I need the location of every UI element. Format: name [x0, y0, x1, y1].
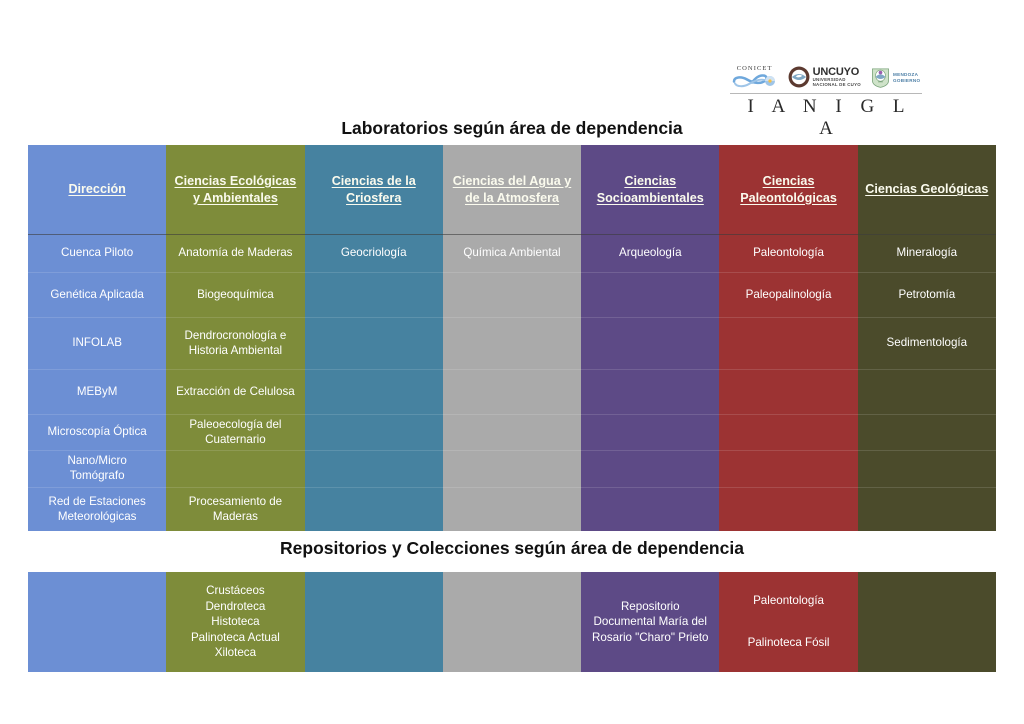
column-header-label: Ciencias Geológicas [865, 181, 988, 198]
column-header-ciencias-ecologicas-y-ambientales[interactable]: Ciencias Ecológicas y Ambientales [166, 145, 304, 234]
repo-column-ciencias-paleontologicas: PaleontologíaPalinoteca Fósil [719, 572, 857, 672]
repositorios-section-title: Repositorios y Colecciones según área de… [0, 538, 1024, 559]
lab-cell-empty [443, 414, 581, 450]
column-header-label: Ciencias Socioambientales [586, 173, 714, 206]
lab-label: Microscopía Óptica [48, 425, 147, 440]
repo-label: CrustáceosDendrotecaHistotecaPalinoteca … [191, 583, 280, 660]
repo-label: RepositorioDocumental María delRosario "… [592, 599, 709, 645]
repo-column-ciencias-del-agua-y-de-la-atmosfera [443, 572, 581, 672]
conicet-logo: CONICET [732, 66, 778, 89]
lab-cell[interactable]: Mineralogía [858, 234, 996, 272]
lab-cell-empty [443, 317, 581, 369]
lab-label: Química Ambiental [463, 246, 560, 261]
lab-label: Anatomía de Maderas [178, 246, 292, 261]
repo-cell-empty [305, 572, 443, 672]
column-header-ciencias-de-la-criosfera[interactable]: Ciencias de la Criosfera [305, 145, 443, 234]
conicet-wordmark: CONICET [737, 66, 773, 73]
lab-cell-empty [858, 450, 996, 487]
lab-cell-empty [305, 487, 443, 531]
lab-label: Paleopalinología [746, 288, 832, 303]
lab-cell-empty [581, 450, 719, 487]
lab-cell[interactable]: Química Ambiental [443, 234, 581, 272]
lab-cell[interactable]: Dendrocronología eHistoria Ambiental [166, 317, 304, 369]
uncuyo-logo: UNCUYO UNIVERSIDAD NACIONAL DE CUYO [788, 66, 861, 88]
conicet-infinity-icon [732, 73, 778, 88]
lab-cell-empty [305, 369, 443, 414]
lab-cell[interactable]: Biogeoquímica [166, 272, 304, 317]
column-direccion: DirecciónCuenca PilotoGenética AplicadaI… [28, 145, 166, 531]
lab-cell-empty [719, 450, 857, 487]
repo-column-ciencias-socioambientales: RepositorioDocumental María delRosario "… [581, 572, 719, 672]
lab-label: Extracción de Celulosa [176, 385, 295, 400]
lab-label: Red de EstacionesMeteorológicas [48, 495, 145, 524]
repo-column-ciencias-de-la-criosfera [305, 572, 443, 672]
mendoza-line-1: MENDOZA [893, 72, 920, 77]
column-ciencias-socioambientales: Ciencias SocioambientalesArqueología [581, 145, 719, 531]
uncuyo-subtitle-2: NACIONAL DE CUYO [813, 83, 861, 88]
repo-column-ciencias-ecologicas-y-ambientales: CrustáceosDendrotecaHistotecaPalinoteca … [166, 572, 304, 672]
column-ciencias-del-agua-y-de-la-atmosfera: Ciencias del Agua y de la AtmosferaQuími… [443, 145, 581, 531]
repo-cell[interactable]: CrustáceosDendrotecaHistotecaPalinoteca … [166, 572, 304, 672]
column-header-ciencias-del-agua-y-de-la-atmosfera[interactable]: Ciencias del Agua y de la Atmosfera [443, 145, 581, 234]
lab-cell[interactable]: Extracción de Celulosa [166, 369, 304, 414]
lab-cell[interactable]: Procesamiento deMaderas [166, 487, 304, 531]
lab-cell[interactable]: Paleontología [719, 234, 857, 272]
repo-label: PaleontologíaPalinoteca Fósil [748, 593, 830, 650]
lab-label: Geocriología [341, 246, 407, 261]
repo-column-ciencias-geologicas [858, 572, 996, 672]
lab-cell-empty [305, 450, 443, 487]
laboratorios-table: DirecciónCuenca PilotoGenética AplicadaI… [28, 145, 996, 531]
uncuyo-text: UNCUYO UNIVERSIDAD NACIONAL DE CUYO [813, 67, 861, 88]
column-header-label: Ciencias Ecológicas y Ambientales [171, 173, 299, 206]
lab-cell[interactable]: Paleopalinología [719, 272, 857, 317]
lab-label: Nano/MicroTomógrafo [68, 454, 127, 483]
lab-cell[interactable]: Microscopía Óptica [28, 414, 166, 450]
mendoza-shield-icon [871, 67, 890, 88]
lab-cell-empty [305, 414, 443, 450]
lab-label: Genética Aplicada [50, 288, 143, 303]
lab-cell-empty [581, 369, 719, 414]
repo-cell[interactable]: PaleontologíaPalinoteca Fósil [719, 572, 857, 672]
lab-cell-empty [719, 487, 857, 531]
lab-cell-empty [581, 414, 719, 450]
column-ciencias-paleontologicas: Ciencias PaleontológicasPaleontologíaPal… [719, 145, 857, 531]
column-header-label: Ciencias de la Criosfera [310, 173, 438, 206]
lab-label: Arqueología [619, 246, 682, 261]
repo-cell-empty [858, 572, 996, 672]
column-ciencias-de-la-criosfera: Ciencias de la CriosferaGeocriología [305, 145, 443, 531]
lab-cell-empty [719, 414, 857, 450]
mendoza-text: MENDOZA GOBIERNO [893, 72, 920, 83]
lab-cell[interactable]: Red de EstacionesMeteorológicas [28, 487, 166, 531]
lab-cell-empty [858, 487, 996, 531]
lab-cell-empty [581, 317, 719, 369]
lab-cell[interactable]: Nano/MicroTomógrafo [28, 450, 166, 487]
uncuyo-seal-icon [788, 66, 810, 88]
lab-label: Cuenca Piloto [61, 246, 133, 261]
lab-cell-empty [166, 450, 304, 487]
lab-label: INFOLAB [72, 336, 122, 351]
column-header-ciencias-geologicas[interactable]: Ciencias Geológicas [858, 145, 996, 234]
column-header-label: Ciencias del Agua y de la Atmosfera [448, 173, 576, 206]
logo-row: CONICET UNCUYO UNIVERSIDAD NACIONAL DE C [728, 44, 924, 88]
lab-cell[interactable]: Cuenca Piloto [28, 234, 166, 272]
lab-label: Paleoecología delCuaternario [189, 418, 281, 447]
lab-label: Sedimentología [887, 336, 968, 351]
repo-cell[interactable]: RepositorioDocumental María delRosario "… [581, 572, 719, 672]
laboratorios-section-title: Laboratorios según área de dependencia [0, 118, 1024, 139]
lab-cell-empty [719, 317, 857, 369]
repo-cell-empty [443, 572, 581, 672]
lab-cell-empty [581, 272, 719, 317]
lab-cell-empty [858, 414, 996, 450]
repositorios-table: CrustáceosDendrotecaHistotecaPalinoteca … [28, 572, 996, 672]
mendoza-line-2: GOBIERNO [893, 78, 920, 83]
column-ciencias-geologicas: Ciencias GeológicasMineralogíaPetrotomía… [858, 145, 996, 531]
lab-cell[interactable]: Genética Aplicada [28, 272, 166, 317]
lab-label: Procesamiento deMaderas [189, 495, 282, 524]
column-header-label: Ciencias Paleontológicas [724, 173, 852, 206]
mendoza-gobierno-logo: MENDOZA GOBIERNO [871, 67, 920, 88]
lab-cell-empty [858, 369, 996, 414]
lab-cell-empty [443, 369, 581, 414]
lab-cell[interactable]: Geocriología [305, 234, 443, 272]
column-header-label: Dirección [68, 181, 125, 198]
lab-cell[interactable]: MEByM [28, 369, 166, 414]
lab-cell[interactable]: Anatomía de Maderas [166, 234, 304, 272]
lab-cell-empty [305, 272, 443, 317]
lab-label: Dendrocronología eHistoria Ambiental [185, 329, 287, 358]
lab-label: Petrotomía [898, 288, 955, 303]
logo-divider [730, 93, 922, 94]
repo-cell-empty [28, 572, 166, 672]
lab-cell-empty [443, 450, 581, 487]
lab-label: Paleontología [753, 246, 824, 261]
lab-cell[interactable]: Sedimentología [858, 317, 996, 369]
lab-label: MEByM [77, 385, 118, 400]
lab-cell-empty [719, 369, 857, 414]
lab-cell-empty [581, 487, 719, 531]
lab-cell-empty [305, 317, 443, 369]
column-header-direccion[interactable]: Dirección [28, 145, 166, 234]
lab-cell[interactable]: Arqueología [581, 234, 719, 272]
lab-label: Biogeoquímica [197, 288, 274, 303]
lab-cell-empty [443, 487, 581, 531]
column-ciencias-ecologicas-y-ambientales: Ciencias Ecológicas y AmbientalesAnatomí… [166, 145, 304, 531]
lab-cell[interactable]: Paleoecología delCuaternario [166, 414, 304, 450]
column-header-ciencias-paleontologicas[interactable]: Ciencias Paleontológicas [719, 145, 857, 234]
lab-cell[interactable]: Petrotomía [858, 272, 996, 317]
lab-cell-empty [443, 272, 581, 317]
lab-label: Mineralogía [897, 246, 958, 261]
repo-column-direccion [28, 572, 166, 672]
column-header-ciencias-socioambientales[interactable]: Ciencias Socioambientales [581, 145, 719, 234]
lab-cell[interactable]: INFOLAB [28, 317, 166, 369]
